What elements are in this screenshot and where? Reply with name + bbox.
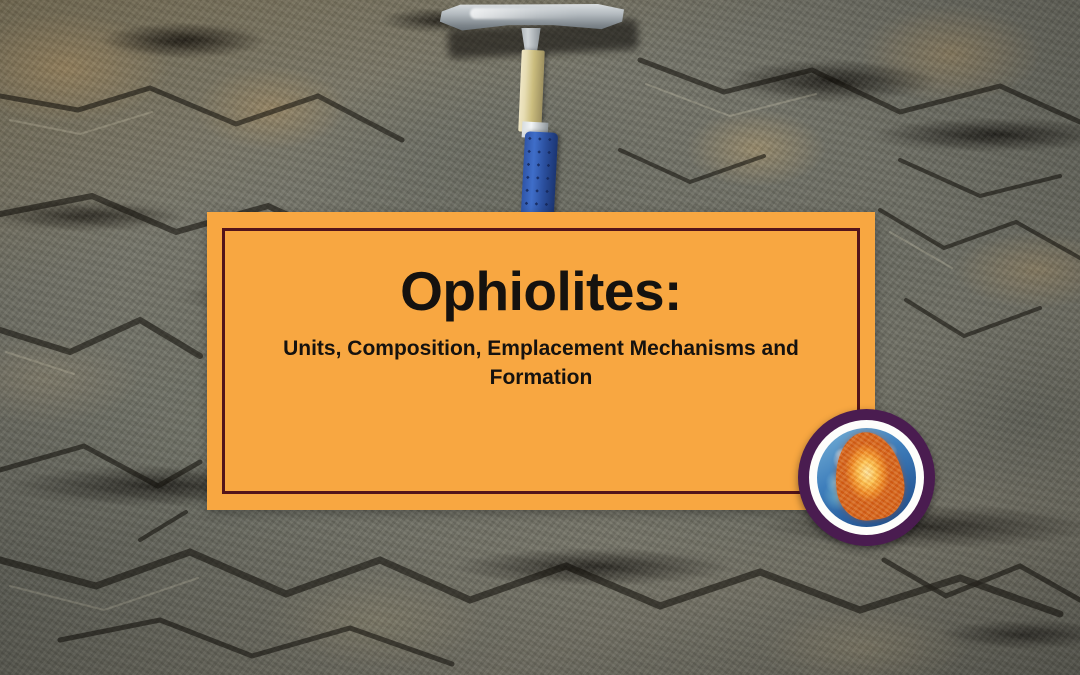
- earth-cutaway-badge: [798, 409, 935, 546]
- title-text-block: Ophiolites: Units, Composition, Emplacem…: [241, 262, 841, 392]
- page-subtitle: Units, Composition, Emplacement Mechanis…: [261, 335, 821, 392]
- hammer-head-highlight: [470, 8, 580, 19]
- title-panel: Ophiolites: Units, Composition, Emplacem…: [207, 212, 875, 510]
- rock-hammer-icon: [430, 0, 630, 214]
- hammer-grip-texture: [521, 131, 558, 217]
- hammer-grip: [521, 131, 558, 217]
- badge-inner-disc: [809, 420, 924, 535]
- hammer-shaft: [518, 50, 545, 133]
- slide-canvas: Ophiolites: Units, Composition, Emplacem…: [0, 0, 1080, 675]
- page-title: Ophiolites:: [241, 262, 841, 321]
